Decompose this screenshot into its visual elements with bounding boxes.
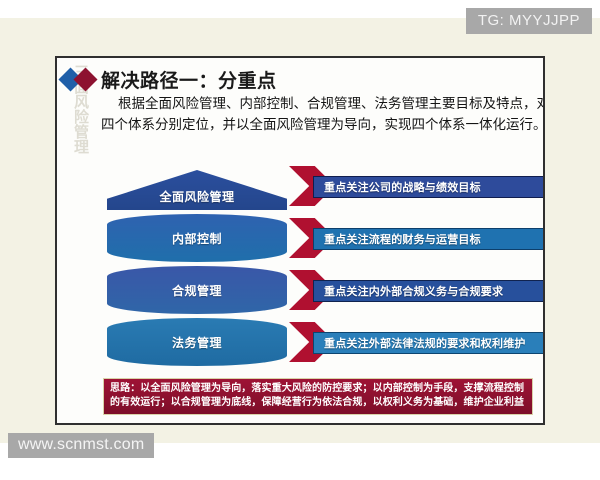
tg-watermark-badge: TG: MYYJJPP xyxy=(466,8,592,34)
callout-box-4: 重点关注外部法律法规的要求和权利维护 xyxy=(313,332,545,354)
diamond-red-icon xyxy=(73,67,97,91)
pyramid-diagram: 全面风险管理 内部控制 合规管理 法务管理 xyxy=(107,170,287,370)
pyramid-layer-1-label: 全面风险管理 xyxy=(159,188,234,205)
pyramid-layer-1: 全面风险管理 xyxy=(107,170,287,210)
summary-banner: 思路：以全面风险管理为导向，落实重大风险的防控要求；以内部控制为手段，支撑流程控… xyxy=(103,378,533,415)
pyramid-layer-4-label: 法务管理 xyxy=(172,334,222,351)
callout-box-3: 重点关注内外部合规义务与合规要求 xyxy=(313,280,545,302)
callout-box-2: 重点关注流程的财务与运营目标 xyxy=(313,228,545,250)
slide-title: 解决路径一：分重点 xyxy=(101,66,277,93)
pyramid-layer-2-label: 内部控制 xyxy=(172,230,222,247)
pyramid-layer-3-label: 合规管理 xyxy=(172,282,222,299)
slide-body-paragraph: 根据全面风险管理、内部控制、合规管理、法务管理主要目标及特点，对四个体系分别定位… xyxy=(101,94,545,136)
callout-box-1: 重点关注公司的战略与绩效目标 xyxy=(313,176,545,198)
slide-title-row: 解决路径一：分重点 xyxy=(57,64,545,94)
presentation-slide: 三面风险管理 解决路径一：分重点 根据全面风险管理、内部控制、合规管理、法务管理… xyxy=(55,56,545,425)
slide-photo-canvas: 三面风险管理 解决路径一：分重点 根据全面风险管理、内部控制、合规管理、法务管理… xyxy=(0,0,600,480)
site-watermark-badge: www.scnmst.com xyxy=(8,433,154,458)
pyramid-layer-3: 合规管理 xyxy=(107,266,287,314)
diamond-bullet-icon xyxy=(59,66,115,92)
pyramid-layer-4: 法务管理 xyxy=(107,318,287,366)
pyramid-layer-2: 内部控制 xyxy=(107,214,287,262)
